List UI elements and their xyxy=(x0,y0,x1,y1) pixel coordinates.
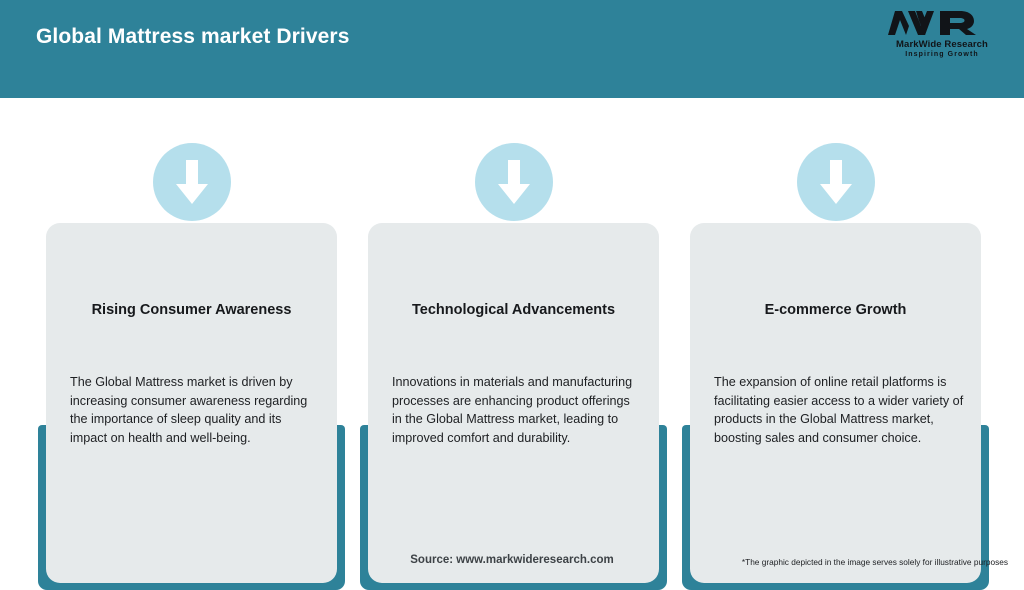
card-badge xyxy=(153,143,231,221)
disclaimer-note: *The graphic depicted in the image serve… xyxy=(742,557,1008,567)
down-arrow-icon xyxy=(172,158,212,206)
driver-card-3[interactable]: E-commerce Growth The expansion of onlin… xyxy=(682,143,989,543)
card-panel: Rising Consumer Awareness The Global Mat… xyxy=(46,223,337,583)
driver-card-1[interactable]: Rising Consumer Awareness The Global Mat… xyxy=(38,143,345,543)
card-title: Rising Consumer Awareness xyxy=(60,301,323,319)
card-title: Technological Advancements xyxy=(382,301,645,319)
card-title: E-commerce Growth xyxy=(704,301,967,319)
driver-card-2[interactable]: Technological Advancements Innovations i… xyxy=(360,143,667,543)
brand-logo: MarkWide Research Inspiring Growth xyxy=(882,8,1002,64)
card-body-text: Innovations in materials and manufacturi… xyxy=(392,373,642,447)
card-body-text: The expansion of online retail platforms… xyxy=(714,373,964,447)
card-badge xyxy=(797,143,875,221)
logo-company-name: MarkWide Research xyxy=(882,39,1002,50)
card-body-text: The Global Mattress market is driven by … xyxy=(70,373,320,447)
page-title: Global Mattress market Drivers xyxy=(36,25,349,49)
down-arrow-icon xyxy=(816,158,856,206)
card-panel: Technological Advancements Innovations i… xyxy=(368,223,659,583)
down-arrow-icon xyxy=(494,158,534,206)
drivers-card-row: Rising Consumer Awareness The Global Mat… xyxy=(0,98,1024,576)
card-panel: E-commerce Growth The expansion of onlin… xyxy=(690,223,981,583)
card-badge xyxy=(475,143,553,221)
mwr-logo-icon xyxy=(882,8,1002,38)
header-band xyxy=(0,0,1024,98)
logo-tagline: Inspiring Growth xyxy=(882,50,1002,59)
